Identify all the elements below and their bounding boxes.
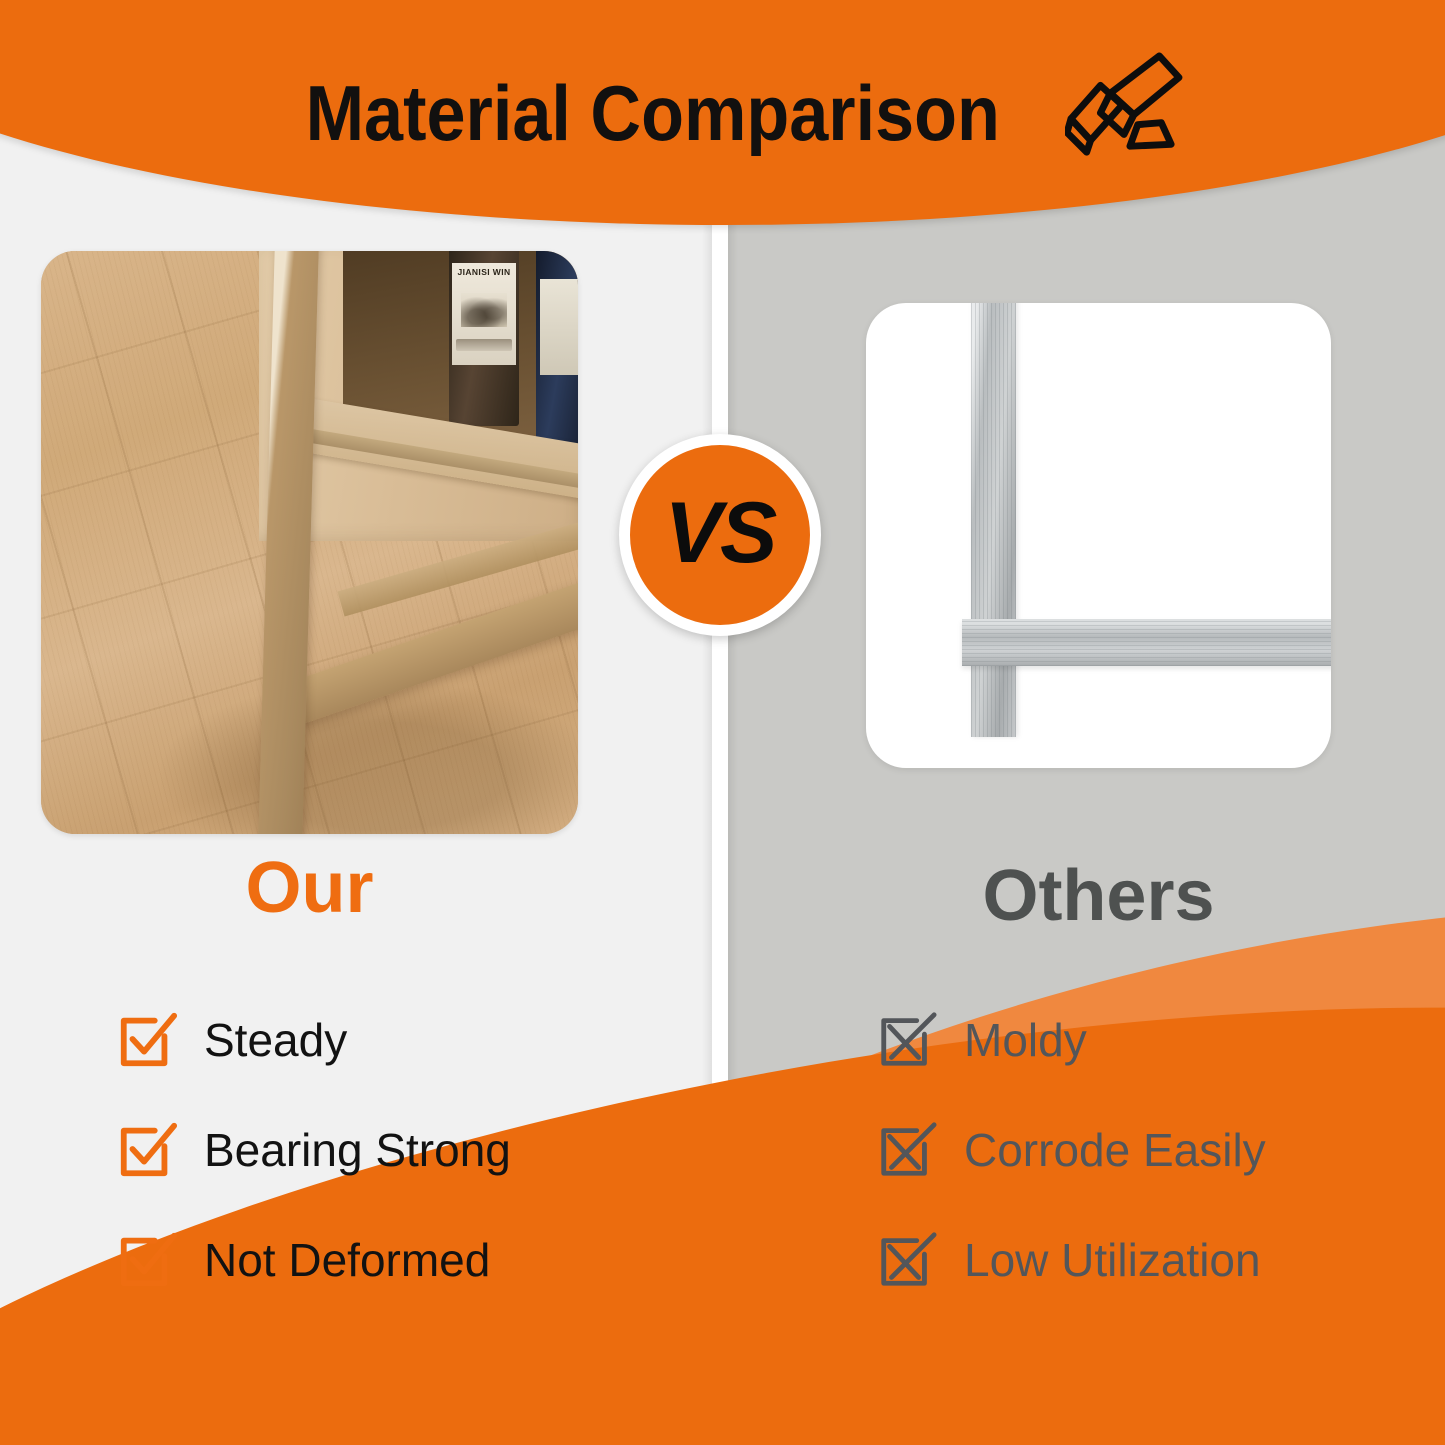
wine-bottle-label-artwork xyxy=(461,293,507,327)
floor-shadow xyxy=(161,681,578,834)
header-content: Material Comparison xyxy=(0,0,1445,225)
feature-row: Corrode Easily xyxy=(876,1095,1266,1205)
others-product-photo xyxy=(866,303,1331,768)
feature-label: Moldy xyxy=(964,1017,1087,1063)
page-title: Material Comparison xyxy=(306,74,1000,152)
checked-checkbox-icon xyxy=(116,1009,178,1071)
feature-label: Corrode Easily xyxy=(964,1127,1266,1173)
gold-bars-icon xyxy=(1065,50,1183,160)
checked-checkbox-icon xyxy=(116,1119,178,1181)
header-banner: Material Comparison xyxy=(0,0,1445,225)
wine-bottle-label-subtext xyxy=(456,339,512,351)
feature-label: Steady xyxy=(204,1017,347,1063)
grey-horizontal-rail-grain xyxy=(962,619,1331,666)
comparison-infographic: Material Comparison JIANISI WIN xyxy=(0,0,1445,1445)
wine-bottle-secondary-label xyxy=(540,279,578,375)
grey-vertical-leg-grain xyxy=(971,303,1016,737)
feature-row: Low Utilization xyxy=(876,1205,1266,1315)
feature-row: Not Deformed xyxy=(116,1205,511,1315)
feature-label: Bearing Strong xyxy=(204,1127,511,1173)
others-heading: Others xyxy=(866,860,1331,932)
crossed-checkbox-icon xyxy=(876,1119,938,1181)
crossed-checkbox-icon xyxy=(876,1009,938,1071)
feature-row: Moldy xyxy=(876,985,1266,1095)
our-feature-list: Steady Bearing Strong Not Deformed xyxy=(116,985,511,1315)
our-heading: Our xyxy=(41,852,578,924)
wine-bottle-label-text: JIANISI WIN xyxy=(454,267,514,277)
vs-badge: VS xyxy=(619,434,821,636)
feature-label: Low Utilization xyxy=(964,1237,1261,1283)
feature-row: Bearing Strong xyxy=(116,1095,511,1205)
vs-label: VS xyxy=(665,484,776,583)
feature-label: Not Deformed xyxy=(204,1237,490,1283)
others-feature-list: Moldy Corrode Easily Low Utilization xyxy=(876,985,1266,1315)
our-product-photo: JIANISI WIN xyxy=(41,251,578,834)
feature-row: Steady xyxy=(116,985,511,1095)
crossed-checkbox-icon xyxy=(876,1229,938,1291)
checked-checkbox-icon xyxy=(116,1229,178,1291)
